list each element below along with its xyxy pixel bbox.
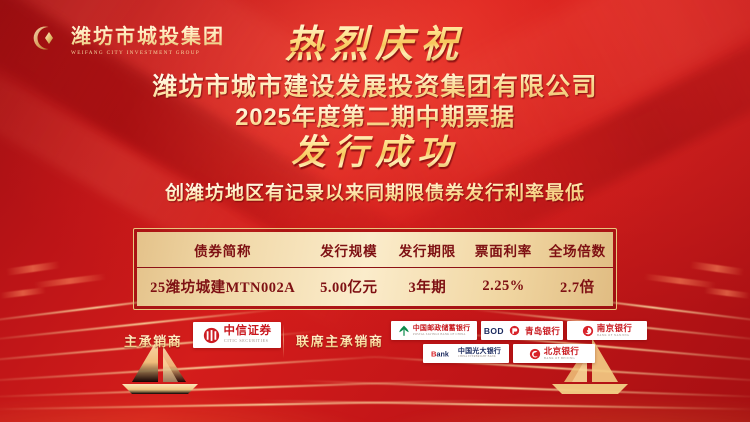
lead-underwriter-label: 主承销商: [124, 331, 182, 350]
logo-text-cn: 北京银行: [544, 347, 580, 356]
logo-text-cn: 南京银行: [597, 324, 633, 333]
underwriter-logo-postal-savings: 中国邮政储蓄银行 POSTAL SAVINGS BANK OF CHINA: [391, 321, 477, 340]
bond-details-panel: 债券简称 发行规模 发行期限 票面利率 全场倍数 25潍坊城建MTN002A 5…: [133, 228, 617, 310]
cell-coupon-rate: 2.25%: [465, 268, 541, 307]
lowest-rate-subtitle: 创潍坊地区有记录以来同期限债券发行利率最低: [165, 182, 585, 205]
underwriter-logo-bank-of-beijing: 北京银行 BANK OF BEIJING: [513, 344, 595, 363]
everbright-bank-icon: B ank: [431, 348, 453, 359]
joint-underwriter-label: 联席主承销商: [296, 331, 384, 350]
col-coupon-rate: 票面利率: [465, 232, 541, 268]
bank-of-qingdao-icon: [509, 325, 520, 336]
celebration-banner: 潍坊市城投集团 WEIFANG CITY INVESTMENT GROUP 热烈…: [0, 0, 750, 422]
company-name-line: 潍坊市城市建设发展投资集团有限公司: [152, 73, 597, 102]
postal-savings-icon: [398, 325, 410, 337]
underwriter-logo-everbright-bank: B ank 中国光大银行 CHINA EVERBRIGHT BANK: [423, 344, 509, 363]
bank-of-nanjing-icon: [582, 325, 594, 337]
table-header-row: 债券简称 发行规模 发行期限 票面利率 全场倍数: [137, 232, 613, 268]
celebrate-title: 热烈庆祝: [285, 24, 465, 66]
logo-text-cn: 中信证券: [224, 326, 272, 338]
headline-block: 热烈庆祝 潍坊市城市建设发展投资集团有限公司 2025年度第二期中期票据 发行成…: [0, 24, 750, 205]
svg-text:ank: ank: [436, 350, 448, 358]
cell-bond-name: 25潍坊城建MTN002A: [137, 268, 308, 307]
logo-text-en: BANK OF BEIJING: [544, 357, 578, 360]
note-issue-line: 2025年度第二期中期票据: [235, 104, 515, 132]
issuance-success-title: 发行成功: [291, 133, 459, 173]
logo-text-cn: 中国邮政储蓄银行: [413, 325, 471, 332]
underwriters-section: 主承销商 联席主承销商 中信证券 CITIC SECURITIES 中国邮: [0, 320, 750, 382]
logo-text-en: BANK OF NANJING: [597, 334, 631, 337]
bank-of-beijing-icon: [529, 348, 541, 360]
logo-text-en: CITIC SECURITIES: [224, 339, 270, 343]
underwriter-logo-citic: 中信证券 CITIC SECURITIES: [193, 322, 281, 348]
col-subscription: 全场倍数: [542, 232, 613, 268]
table-row: 25潍坊城建MTN002A 5.00亿元 3年期 2.25% 2.7倍: [137, 268, 613, 307]
underwriter-logo-bank-of-nanjing: 南京银行 BANK OF NANJING: [567, 321, 647, 340]
logo-text-cn: 青岛银行: [525, 325, 560, 337]
col-issue-term: 发行期限: [389, 232, 465, 268]
logo-text-cn: 中国光大银行: [458, 348, 501, 355]
col-issue-size: 发行规模: [308, 232, 389, 268]
cell-subscription: 2.7倍: [542, 268, 613, 307]
cell-issue-size: 5.00亿元: [308, 268, 389, 307]
logo-text-en: CHINA EVERBRIGHT BANK: [458, 356, 499, 359]
bond-details-table: 债券简称 发行规模 发行期限 票面利率 全场倍数 25潍坊城建MTN002A 5…: [137, 232, 613, 306]
cell-issue-term: 3年期: [389, 268, 465, 307]
logo-text-en: BOD: [484, 326, 504, 336]
section-divider: [283, 324, 284, 358]
underwriter-logo-bank-of-qingdao: BOD 青岛银行: [481, 321, 563, 340]
logo-text-en: POSTAL SAVINGS BANK OF CHINA: [413, 333, 468, 336]
citic-emblem-icon: [203, 327, 220, 344]
col-bond-name: 债券简称: [137, 232, 308, 268]
